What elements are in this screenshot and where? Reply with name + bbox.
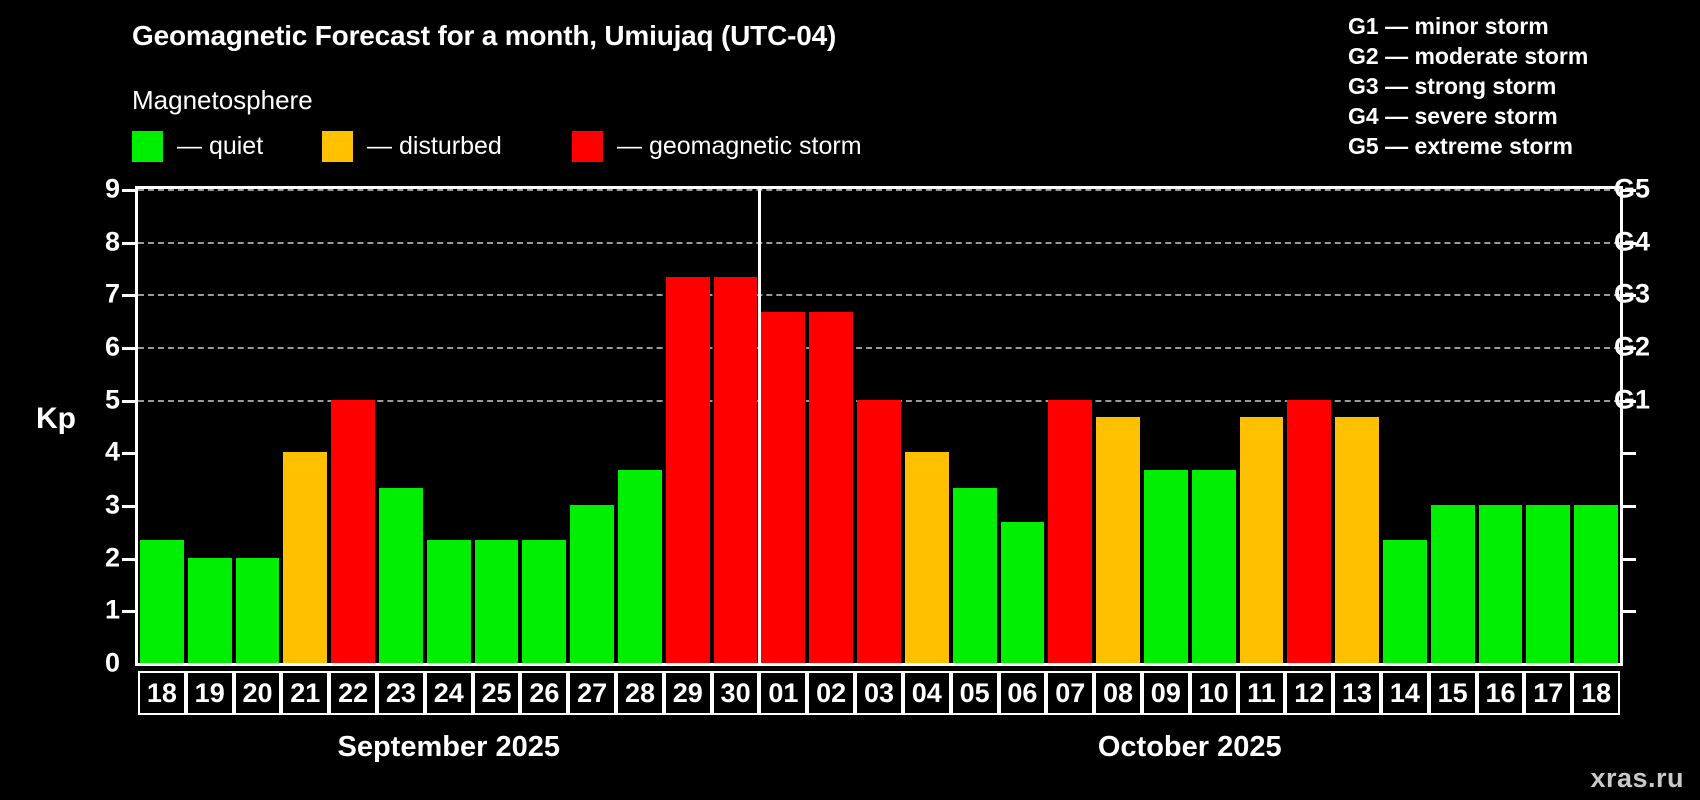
- bar-10: [1192, 470, 1236, 663]
- y-tick-left-3: [122, 505, 138, 508]
- bar-05: [953, 488, 997, 663]
- storm-swatch: [572, 131, 603, 162]
- bar-18: [140, 540, 184, 663]
- y-tick-right-3: [1620, 505, 1636, 508]
- y-tick-left-7: [122, 294, 138, 297]
- date-cell-7[interactable]: 25: [473, 671, 521, 715]
- magnetosphere-legend-item-1: — disturbed: [322, 131, 502, 162]
- bar-22: [331, 400, 375, 663]
- date-axis: 1819202122232425262728293001020304050607…: [135, 671, 1623, 715]
- date-cell-28[interactable]: 16: [1477, 671, 1525, 715]
- magnetosphere-label: Magnetosphere: [132, 85, 313, 116]
- y-axis-label-7: 7: [0, 279, 120, 310]
- date-cell-26[interactable]: 14: [1381, 671, 1429, 715]
- page-title: Geomagnetic Forecast for a month, Umiuja…: [132, 20, 836, 52]
- bar-19: [188, 558, 232, 663]
- y-axis-label-4: 4: [0, 437, 120, 468]
- date-cell-13[interactable]: 01: [759, 671, 807, 715]
- plot-frame: [135, 186, 1623, 666]
- y-tick-left-6: [122, 347, 138, 350]
- y-axis-label-0: 0: [0, 648, 120, 679]
- date-cell-9[interactable]: 27: [568, 671, 616, 715]
- bar-16: [1479, 505, 1523, 663]
- bar-13: [1335, 417, 1379, 663]
- date-cell-29[interactable]: 17: [1524, 671, 1572, 715]
- date-cell-12[interactable]: 30: [712, 671, 760, 715]
- bar-series: [138, 189, 1620, 663]
- bar-06: [1001, 522, 1045, 663]
- date-cell-17[interactable]: 05: [951, 671, 999, 715]
- date-cell-25[interactable]: 13: [1333, 671, 1381, 715]
- date-cell-15[interactable]: 03: [855, 671, 903, 715]
- date-cell-8[interactable]: 26: [520, 671, 568, 715]
- date-cell-20[interactable]: 08: [1094, 671, 1142, 715]
- g-axis-label-g4: G4: [1614, 226, 1650, 257]
- bar-29: [666, 277, 710, 663]
- magnetosphere-legend-item-2: — geomagnetic storm: [572, 131, 862, 162]
- y-tick-left-9: [122, 189, 138, 192]
- bar-18: [1574, 505, 1618, 663]
- magnetosphere-legend-label: — geomagnetic storm: [617, 132, 862, 161]
- g-axis-label-g1: G1: [1614, 384, 1650, 415]
- date-cell-18[interactable]: 06: [999, 671, 1047, 715]
- date-cell-14[interactable]: 02: [807, 671, 855, 715]
- bar-14: [1383, 540, 1427, 663]
- chart-header: Geomagnetic Forecast for a month, Umiuja…: [0, 0, 1700, 178]
- date-cell-6[interactable]: 24: [425, 671, 473, 715]
- bar-04: [905, 452, 949, 663]
- bar-28: [618, 470, 662, 663]
- magnetosphere-legend-label: — quiet: [177, 132, 263, 161]
- month-divider: [758, 189, 761, 663]
- y-tick-left-1: [122, 610, 138, 613]
- chart-area: Kp 0123456789 G1G2G3G4G5 181920212223242…: [0, 178, 1700, 800]
- bar-02: [809, 312, 853, 663]
- date-cell-10[interactable]: 28: [616, 671, 664, 715]
- y-tick-left-2: [122, 558, 138, 561]
- y-tick-left-5: [122, 400, 138, 403]
- date-cell-4[interactable]: 22: [329, 671, 377, 715]
- month-label-0: September 2025: [338, 731, 560, 764]
- date-cell-30[interactable]: 18: [1572, 671, 1620, 715]
- date-cell-0[interactable]: 18: [138, 671, 186, 715]
- g-key-row-5: G5 — extreme storm: [1348, 132, 1678, 162]
- bar-01: [761, 312, 805, 663]
- y-tick-left-4: [122, 452, 138, 455]
- date-cell-23[interactable]: 11: [1238, 671, 1286, 715]
- quiet-swatch: [132, 131, 163, 162]
- magnetosphere-legend-label: — disturbed: [367, 132, 502, 161]
- y-tick-right-2: [1620, 558, 1636, 561]
- bar-09: [1144, 470, 1188, 663]
- magnetosphere-legend-item-0: — quiet: [132, 131, 263, 162]
- date-cell-2[interactable]: 20: [234, 671, 282, 715]
- g-axis-label-g2: G2: [1614, 332, 1650, 363]
- bar-11: [1240, 417, 1284, 663]
- bar-26: [522, 540, 566, 663]
- watermark: xras.ru: [1590, 763, 1684, 794]
- disturbed-swatch: [322, 131, 353, 162]
- g-key-row-4: G4 — severe storm: [1348, 102, 1678, 132]
- g-key-row-1: G1 — minor storm: [1348, 12, 1678, 42]
- y-axis-label-8: 8: [0, 226, 120, 257]
- y-tick-right-4: [1620, 452, 1636, 455]
- plot-inner: [138, 189, 1620, 663]
- y-axis-label-3: 3: [0, 490, 120, 521]
- y-axis-label-6: 6: [0, 332, 120, 363]
- date-cell-19[interactable]: 07: [1046, 671, 1094, 715]
- bar-03: [857, 400, 901, 663]
- date-cell-16[interactable]: 04: [903, 671, 951, 715]
- y-axis-label-1: 1: [0, 595, 120, 626]
- bar-12: [1287, 400, 1331, 663]
- bar-08: [1096, 417, 1140, 663]
- date-cell-3[interactable]: 21: [281, 671, 329, 715]
- date-cell-11[interactable]: 29: [664, 671, 712, 715]
- g-scale-key: G1 — minor stormG2 — moderate stormG3 — …: [1348, 12, 1678, 161]
- g-axis-label-g5: G5: [1614, 174, 1650, 205]
- y-axis-label-9: 9: [0, 174, 120, 205]
- month-label-1: October 2025: [1098, 731, 1282, 764]
- bar-24: [427, 540, 471, 663]
- date-cell-1[interactable]: 19: [186, 671, 234, 715]
- bar-15: [1431, 505, 1475, 663]
- y-axis-label-5: 5: [0, 384, 120, 415]
- bar-27: [570, 505, 614, 663]
- bar-20: [236, 558, 280, 663]
- bar-07: [1048, 400, 1092, 663]
- bar-25: [475, 540, 519, 663]
- bar-17: [1526, 505, 1570, 663]
- date-cell-27[interactable]: 15: [1429, 671, 1477, 715]
- g-key-row-3: G3 — strong storm: [1348, 72, 1678, 102]
- date-cell-24[interactable]: 12: [1285, 671, 1333, 715]
- y-axis-label-2: 2: [0, 542, 120, 573]
- y-tick-right-1: [1620, 610, 1636, 613]
- date-cell-5[interactable]: 23: [377, 671, 425, 715]
- g-axis-label-g3: G3: [1614, 279, 1650, 310]
- bar-21: [283, 452, 327, 663]
- date-cell-22[interactable]: 10: [1190, 671, 1238, 715]
- date-cell-21[interactable]: 09: [1142, 671, 1190, 715]
- bar-23: [379, 488, 423, 663]
- y-tick-left-8: [122, 242, 138, 245]
- g-key-row-2: G2 — moderate storm: [1348, 42, 1678, 72]
- bar-30: [714, 277, 758, 663]
